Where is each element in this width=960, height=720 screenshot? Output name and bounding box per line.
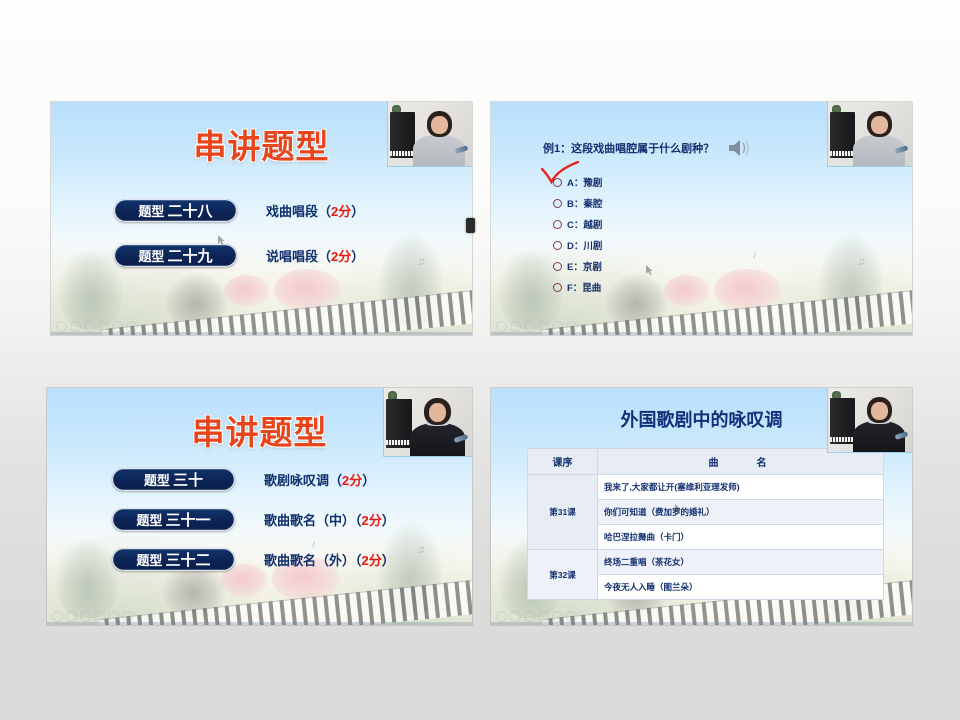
question-type-pill[interactable]: 题型 三十一 bbox=[112, 508, 235, 531]
slide-watermark-controls bbox=[496, 321, 577, 332]
pill-value-label: 三十 bbox=[173, 469, 203, 490]
pill-lead-label: 题型 bbox=[136, 510, 162, 529]
watermark-dot-5 bbox=[552, 611, 563, 622]
slide-watermark-controls bbox=[52, 611, 133, 622]
aria-title-cell: 终场二重唱（茶花女） bbox=[598, 550, 884, 575]
watermark-dot-2 bbox=[70, 321, 81, 332]
pill-value-label: 三十一 bbox=[165, 509, 210, 530]
column-header-lesson: 课序 bbox=[528, 449, 598, 475]
quiz-option-f[interactable]: F：昆曲 bbox=[553, 280, 602, 294]
watermark-dot-5 bbox=[112, 321, 123, 332]
watermark-dot-4 bbox=[538, 321, 549, 332]
question-type-pill[interactable]: 题型 三十二 bbox=[112, 548, 235, 571]
quiz-question-text: 例1：这段戏曲唱腔属于什么剧种？ bbox=[543, 140, 714, 156]
watermark-dot-1 bbox=[496, 611, 507, 622]
aria-title-cell: 你们可知道（费加罗的婚礼） bbox=[598, 500, 884, 525]
description-tail: ） bbox=[351, 249, 364, 264]
slide-watermark-controls bbox=[496, 611, 577, 622]
slide-watermark-controls bbox=[56, 321, 137, 332]
question-type-description: 戏曲唱段（2分） bbox=[266, 201, 364, 220]
table-row[interactable]: 第31课 我来了,大家都让开(塞维利亚理发师) bbox=[528, 475, 884, 500]
description-text: 歌曲歌名（外）（ bbox=[264, 553, 362, 568]
slide-panel-1[interactable]: ♪ ♫ 串讲题型 题型 二十八 戏曲唱段（2分） 题型 二十九 说唱唱段（2分） bbox=[51, 102, 472, 335]
watermark-dot-3 bbox=[524, 611, 535, 622]
webcam-overlay[interactable] bbox=[827, 388, 912, 453]
option-label: E：京剧 bbox=[567, 259, 602, 273]
watermark-dot-6 bbox=[126, 321, 137, 332]
watermark-dot-3 bbox=[524, 321, 535, 332]
pill-value-label: 三十二 bbox=[165, 549, 210, 570]
aria-title-cell: 我来了,大家都让开(塞维利亚理发师) bbox=[598, 475, 884, 500]
radio-button-icon[interactable] bbox=[553, 262, 562, 271]
pill-lead-label: 题型 bbox=[144, 470, 170, 489]
quiz-option-e[interactable]: E：京剧 bbox=[553, 259, 602, 273]
question-type-pill[interactable]: 题型 三十 bbox=[112, 468, 235, 491]
description-text: 歌曲歌名（中）（ bbox=[264, 513, 362, 528]
option-label: F：昆曲 bbox=[567, 280, 601, 294]
description-tail: ） bbox=[362, 473, 375, 488]
question-type-row: 题型 三十一 歌曲歌名（中）（2分） bbox=[112, 508, 395, 531]
watermark-dot-1 bbox=[52, 611, 63, 622]
watermark-dot-6 bbox=[566, 611, 577, 622]
question-type-row: 题型 三十二 歌曲歌名（外）（2分） bbox=[112, 548, 395, 571]
option-label: D：川剧 bbox=[567, 238, 602, 252]
aria-list-table[interactable]: 课序 曲 名 第31课 我来了,大家都让开(塞维利亚理发师) 你们可知道（费加罗… bbox=[527, 448, 884, 600]
pill-value-label: 二十九 bbox=[167, 245, 212, 266]
pill-lead-label: 题型 bbox=[138, 246, 164, 265]
points-value: 2分 bbox=[331, 204, 351, 219]
description-tail: ） bbox=[351, 204, 364, 219]
table-row[interactable]: 第32课 终场二重唱（茶花女） bbox=[528, 550, 884, 575]
pill-value-label: 二十八 bbox=[167, 200, 212, 221]
webcam-overlay[interactable] bbox=[383, 388, 472, 457]
question-type-row: 题型 二十九 说唱唱段（2分） bbox=[114, 244, 364, 267]
pill-lead-label: 题型 bbox=[138, 201, 164, 220]
question-type-pill[interactable]: 题型 二十九 bbox=[114, 244, 237, 267]
webcam-overlay[interactable] bbox=[827, 102, 912, 167]
watermark-dot-1 bbox=[496, 321, 507, 332]
watermark-dot-4 bbox=[538, 611, 549, 622]
watermark-dot-4 bbox=[98, 321, 109, 332]
question-type-description: 歌曲歌名（外）（2分） bbox=[264, 550, 395, 569]
option-label: A：豫剧 bbox=[567, 175, 602, 189]
question-type-description: 歌剧咏叹调（2分） bbox=[264, 470, 375, 489]
question-type-row: 题型 二十八 戏曲唱段（2分） bbox=[114, 199, 364, 222]
question-type-pill[interactable]: 题型 二十八 bbox=[114, 199, 237, 222]
watermark-dot-3 bbox=[84, 321, 95, 332]
speaker-icon[interactable] bbox=[727, 138, 751, 163]
slide-panel-3[interactable]: ♪ ♫ 串讲题型 题型 三十 歌剧咏叹调（2分） 题型 三十一 歌曲歌名（中）（… bbox=[47, 388, 472, 625]
description-tail: ） bbox=[382, 513, 395, 528]
watermark-dot-3 bbox=[80, 611, 91, 622]
radio-button-icon[interactable] bbox=[553, 241, 562, 250]
watermark-dot-6 bbox=[122, 611, 133, 622]
slide-panel-4[interactable]: 外国歌剧中的咏叹调 课序 曲 名 第31课 我来了,大家都让开(塞维利亚理发师)… bbox=[491, 388, 912, 625]
watermark-dot-5 bbox=[552, 321, 563, 332]
description-text: 戏曲唱段（ bbox=[266, 204, 331, 219]
pill-lead-label: 题型 bbox=[136, 550, 162, 569]
aria-title-cell: 哈巴涅拉舞曲（卡门） bbox=[598, 525, 884, 550]
option-label: C：越剧 bbox=[567, 217, 602, 231]
lesson-cell: 第32课 bbox=[528, 550, 598, 600]
points-value: 2分 bbox=[362, 513, 382, 528]
mouse-cursor bbox=[218, 232, 225, 242]
slide-edge-handle[interactable] bbox=[466, 218, 475, 233]
question-type-description: 说唱唱段（2分） bbox=[266, 246, 364, 265]
watermark-dot-5 bbox=[108, 611, 119, 622]
aria-title-cell: 今夜无人入睡（图兰朵） bbox=[598, 575, 884, 600]
points-value: 2分 bbox=[331, 249, 351, 264]
quiz-options-list: A：豫剧 B：秦腔 C：越剧 D：川剧 E：京剧 F：昆曲 bbox=[553, 175, 602, 298]
quiz-option-a[interactable]: A：豫剧 bbox=[553, 175, 602, 189]
quiz-option-c[interactable]: C：越剧 bbox=[553, 217, 602, 231]
watermark-dot-1 bbox=[56, 321, 67, 332]
description-tail: ） bbox=[382, 553, 395, 568]
question-type-row: 题型 三十 歌剧咏叹调（2分） bbox=[112, 468, 375, 491]
description-text: 歌剧咏叹调（ bbox=[264, 473, 342, 488]
radio-button-icon[interactable] bbox=[553, 178, 562, 187]
watermark-dot-2 bbox=[510, 611, 521, 622]
description-text: 说唱唱段（ bbox=[266, 249, 331, 264]
radio-button-icon[interactable] bbox=[553, 220, 562, 229]
question-type-description: 歌曲歌名（中）（2分） bbox=[264, 510, 395, 529]
mouse-cursor bbox=[646, 262, 653, 272]
quiz-option-b[interactable]: B：秦腔 bbox=[553, 196, 602, 210]
webcam-overlay[interactable] bbox=[387, 102, 472, 167]
watermark-dot-2 bbox=[510, 321, 521, 332]
points-value: 2分 bbox=[362, 553, 382, 568]
watermark-dot-2 bbox=[66, 611, 77, 622]
slide-panel-2[interactable]: ♪ ♫ 例1：这段戏曲唱腔属于什么剧种？ A：豫剧 B：秦腔 C：越剧 bbox=[491, 102, 912, 335]
radio-button-icon[interactable] bbox=[553, 199, 562, 208]
radio-button-icon[interactable] bbox=[553, 283, 562, 292]
points-value: 2分 bbox=[342, 473, 362, 488]
watermark-dot-6 bbox=[566, 321, 577, 332]
lesson-cell: 第31课 bbox=[528, 475, 598, 550]
quiz-option-d[interactable]: D：川剧 bbox=[553, 238, 602, 252]
mouse-cursor bbox=[675, 501, 682, 511]
watermark-dot-4 bbox=[94, 611, 105, 622]
option-label: B：秦腔 bbox=[567, 196, 602, 210]
